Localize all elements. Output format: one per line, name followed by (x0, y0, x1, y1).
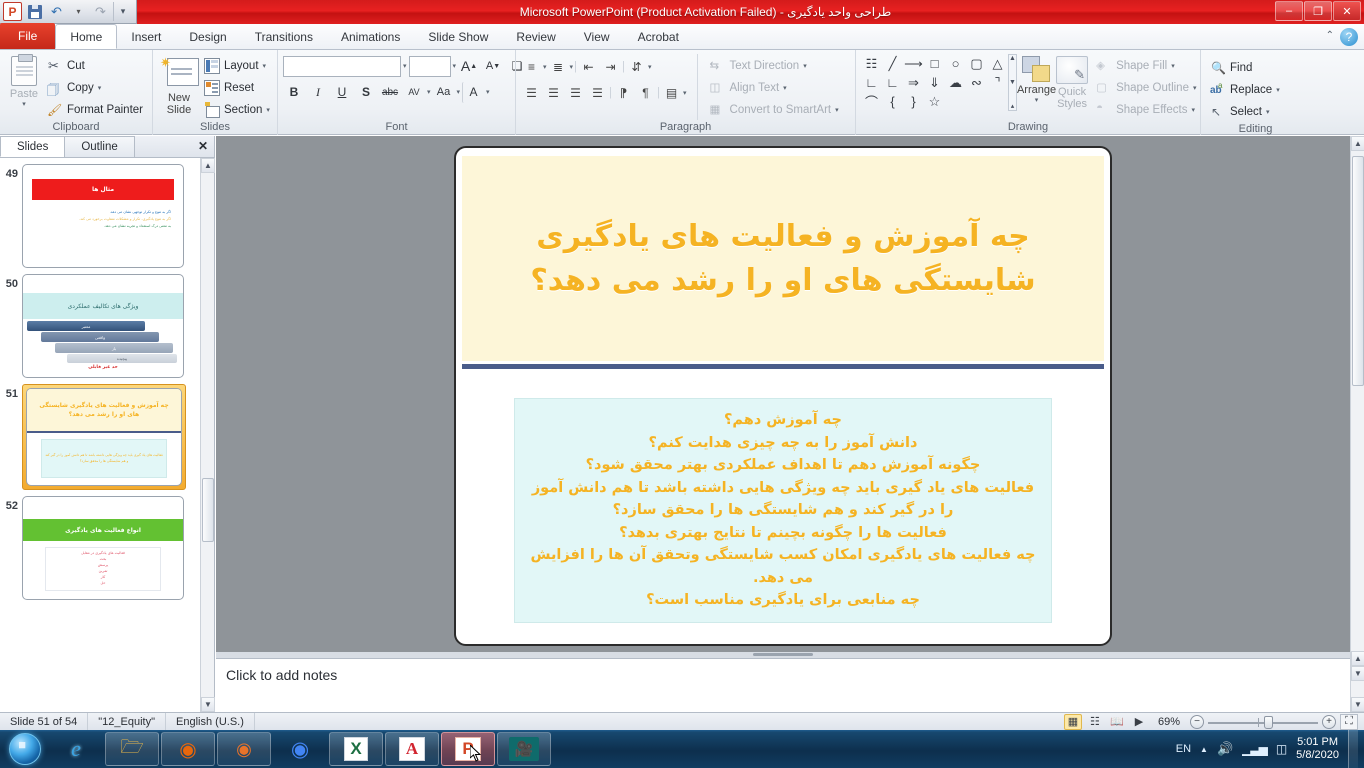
thumbnail-50-bar-2: واقعی (41, 332, 159, 342)
thumbnail-number-50: 50 (2, 274, 22, 290)
find-button[interactable]: Find (1206, 57, 1284, 78)
close-button[interactable]: ✕ (1333, 1, 1361, 21)
next-slide-icon[interactable]: ▼ (1351, 666, 1364, 681)
replace-label: Replace (1230, 84, 1272, 96)
taskbar-adobe-acrobat[interactable]: A (385, 732, 439, 766)
slide-body-line-5: فعالیت ها را چگونه بچینم تا نتایج بهتری … (523, 522, 1043, 544)
slide-divider (462, 364, 1104, 369)
media-player-icon: ◉ (236, 739, 252, 760)
clock-date: 5/8/2020 (1296, 749, 1339, 761)
language-indicator-tray[interactable]: EN (1176, 743, 1191, 755)
taskbar-camera-app[interactable]: 🎥 (497, 732, 551, 766)
replace-button[interactable]: Replace ▾ (1206, 79, 1284, 100)
network-bars-icon[interactable]: ▁▃▅ (1242, 742, 1267, 756)
numbering-dropdown-icon[interactable]: ▾ (570, 63, 574, 71)
paste-label: Paste (10, 88, 38, 100)
columns-dropdown-icon[interactable]: ▾ (683, 89, 687, 97)
slide-body-line-1: چه آموزش دهم؟ (523, 409, 1043, 431)
increase-indent-icon[interactable]: ⇥ (600, 57, 621, 77)
volume-icon[interactable]: 🔊 (1217, 741, 1233, 757)
tab-file[interactable]: File (0, 23, 55, 49)
shapes-gallery[interactable]: ☷ ╱ ⟶ □ ○ ▢ △ ∟ ∟ ⇒ ⇓ ☁ ∾ ⌝ ⌒ { } ☆ (861, 54, 1008, 111)
acrobat-icon: A (399, 737, 425, 761)
shape-outline-dropdown-icon[interactable]: ▾ (1193, 84, 1197, 92)
battery-icon[interactable]: ◫ (1276, 742, 1287, 756)
reset-button[interactable]: Reset (200, 77, 274, 98)
pane-scroll-thumb[interactable] (202, 478, 214, 542)
editing-group-title: Editing (1206, 122, 1305, 137)
zoom-out-button[interactable]: − (1190, 715, 1204, 729)
shape-right-arrow[interactable]: ⇒ (903, 73, 924, 92)
window-controls: – ❐ ✕ (1274, 1, 1361, 23)
find-label: Find (1230, 62, 1252, 74)
undo-icon[interactable]: ↶ (47, 2, 66, 21)
slide-body-line-4: فعالیت های یاد گیری باید چه ویژگی هایی د… (523, 477, 1043, 522)
powerpoint-app-icon[interactable]: P (3, 2, 22, 21)
quick-access-toolbar[interactable]: P ↶ ▾ ↷ ▾ (0, 0, 137, 24)
shape-star[interactable]: ☆ (924, 92, 945, 111)
cursor-icon (1210, 104, 1226, 120)
tab-view[interactable]: View (570, 25, 624, 49)
binoculars-icon (1210, 60, 1226, 76)
shape-curve[interactable]: ⌝ (987, 73, 1008, 92)
windows-orb-icon (9, 733, 41, 765)
cut-label: Cut (67, 60, 85, 72)
section-icon (204, 102, 220, 118)
thumbnail-49-bullet-3: به معنی درک استعداد و تجربه نشان می دهد. (39, 223, 171, 230)
font-name-input[interactable] (283, 56, 401, 77)
font-group-title: Font (283, 120, 510, 135)
thumbnail-50-bar-1: معتبر (27, 321, 145, 331)
close-pane-icon[interactable]: ✕ (198, 139, 208, 153)
convert-to-smartart-label: Convert to SmartArt (730, 104, 832, 116)
thumbnail-51-body: فعالیت های یاد گیری باید چه ویژگی هایی د… (42, 453, 166, 464)
slide-area-scrollbar[interactable]: ▲ ▲ ▼ ▼ (1350, 136, 1364, 712)
thumbnail-row-52: 52 انواع فعالیت های یادگیری فعالیت های ی… (0, 490, 200, 600)
tab-acrobat[interactable]: Acrobat (624, 25, 693, 49)
tab-insert[interactable]: Insert (117, 25, 175, 49)
collapse-ribbon-icon[interactable]: ⌃ (1326, 30, 1334, 41)
save-icon[interactable] (25, 2, 44, 21)
shape-arc[interactable]: ⌒ (861, 92, 882, 111)
slide-body-line-7: چه منابعی برای یادگیری مناسب است؟ (523, 589, 1043, 611)
copy-label: Copy (67, 82, 94, 94)
font-size-dropdown-icon[interactable]: ▾ (453, 62, 457, 70)
character-spacing-dropdown-icon[interactable]: ▾ (427, 88, 431, 96)
select-button[interactable]: Select ▾ (1206, 101, 1284, 122)
taskbar-microsoft-excel[interactable]: X (329, 732, 383, 766)
shape-effects-label: Shape Effects (1116, 104, 1187, 116)
language-indicator[interactable]: English (U.S.) (166, 713, 255, 731)
scroll-thumb[interactable] (1352, 156, 1364, 386)
drawing-group-title: Drawing (861, 120, 1195, 135)
reset-icon (204, 80, 220, 96)
taskbar-windows-explorer[interactable]: 🗁 (105, 732, 159, 766)
thumbnail-50-title: ویژگی های تکالیف عملکردی (68, 303, 139, 310)
ribbon-group-clipboard: Paste ▾ Cut Copy ▾ Format Painter C (0, 50, 152, 135)
slide-thumbnail-51-selection: چه آموزش و فعالیت های یادگیری شایستگی ها… (22, 384, 186, 490)
shape-outline-icon: ▢ (1096, 80, 1112, 96)
format-painter-button[interactable]: Format Painter (43, 99, 147, 120)
thumbnail-row-49: 49 مثال ها اگر به تنوع و تکرار توجهی نشا… (0, 158, 200, 268)
quick-styles-icon (1056, 56, 1088, 84)
shape-effects-icon: ◓ (1096, 102, 1112, 118)
text-direction-label: Text Direction (730, 60, 800, 72)
tab-animations[interactable]: Animations (327, 25, 414, 49)
zoom-tick (1258, 718, 1259, 727)
bullets-dropdown-icon[interactable]: ▾ (543, 63, 547, 71)
shapes-scroll-down-icon[interactable]: ▼ (1009, 79, 1016, 86)
internet-explorer-icon: e (71, 736, 81, 762)
quick-styles-label-1: Quick (1058, 86, 1086, 98)
zoom-slider[interactable] (1208, 714, 1318, 730)
tab-home[interactable]: Home (55, 24, 117, 49)
section-button[interactable]: Section ▾ (200, 99, 274, 120)
slide-title-placeholder[interactable]: چه آموزش و فعالیت های یادگیری شایستگی ها… (462, 156, 1104, 361)
quick-styles-button[interactable]: Quick Styles (1056, 54, 1088, 110)
slide-title-text: چه آموزش و فعالیت های یادگیری شایستگی ها… (462, 215, 1104, 302)
shape-fill-label: Shape Fill (1116, 60, 1167, 72)
slide-thumbnail-52[interactable]: انواع فعالیت های یادگیری فعالیت های یادگ… (22, 496, 184, 600)
reset-label: Reset (224, 82, 254, 94)
shapes-scroll-up-icon[interactable]: ▲ (1009, 55, 1016, 62)
slide-body-line-6: چه فعالیت های یادگیری امکان کسب شایستگی … (523, 544, 1043, 589)
text-direction-button[interactable]: ⇆ Text Direction ▾ (706, 55, 843, 76)
show-hidden-icons-icon[interactable]: ▲ (1200, 745, 1208, 754)
select-dropdown-icon[interactable]: ▾ (1266, 108, 1270, 116)
new-slide-label-2: Slide (167, 104, 191, 116)
shape-rounded-rectangle[interactable]: ▢ (966, 54, 987, 73)
thumbnail-number-52: 52 (2, 496, 22, 512)
scissors-icon (47, 58, 63, 74)
shape-rectangle[interactable]: □ (924, 54, 945, 73)
paste-icon (11, 56, 37, 86)
arrange-icon (1022, 56, 1052, 82)
scroll-up-icon[interactable]: ▲ (1351, 136, 1364, 151)
shape-arrow[interactable]: ⟶ (903, 54, 924, 73)
taskbar-firefox[interactable]: ◉ (161, 732, 215, 766)
change-case-dropdown-icon[interactable]: ▾ (457, 88, 461, 96)
line-spacing-icon[interactable]: ⇵ (626, 57, 647, 77)
status-bar: Slide 51 of 54 "12_Equity" English (U.S.… (0, 712, 1364, 730)
show-desktop-button[interactable] (1348, 730, 1358, 768)
slide-counter[interactable]: Slide 51 of 54 (0, 713, 88, 731)
text-direction-dropdown-icon[interactable]: ▾ (803, 62, 807, 70)
status-bar-right: ▦ ☷ 📖 ▶ 69% − + ⛶ (1064, 714, 1364, 730)
reading-view-icon[interactable]: 📖 (1108, 714, 1126, 730)
normal-view-icon[interactable]: ▦ (1064, 714, 1082, 730)
taskbar: e 🗁 ◉ ◉ ◉ X A P 🎥 EN ▲ 🔊 ▁▃▅ ◫ 5:01 PM 5… (0, 730, 1364, 768)
slide-thumbnail-49[interactable]: مثال ها اگر به تنوع و تکرار توجهی نشان م… (22, 164, 184, 268)
shape-corner[interactable]: ∟ (861, 73, 882, 92)
new-slide-button[interactable]: ✷ New Slide (158, 54, 200, 116)
ribbon: Paste ▾ Cut Copy ▾ Format Painter C (0, 50, 1364, 135)
shape-scribble[interactable]: ∾ (966, 73, 987, 92)
font-name-dropdown-icon[interactable]: ▾ (403, 62, 407, 70)
thumbnail-52-body: فعالیت های یادگیری در مقابلبحثپرسشتمرینک… (81, 550, 125, 586)
line-spacing-dropdown-icon[interactable]: ▾ (648, 63, 652, 71)
theme-name[interactable]: "12_Equity" (88, 713, 166, 731)
arrange-button[interactable]: Arrange ▾ (1017, 54, 1056, 104)
align-text-icon: ◫ (710, 80, 726, 96)
format-painter-label: Format Painter (67, 104, 143, 116)
arrange-label: Arrange (1017, 84, 1056, 96)
ribbon-group-editing: Find Replace ▾ Select ▾ Editing (1200, 50, 1310, 135)
font-color-dropdown-icon[interactable]: ▾ (486, 88, 490, 96)
thumbnail-51-title: چه آموزش و فعالیت های یادگیری شایستگی ها… (33, 401, 175, 419)
firefox-icon: ◉ (179, 737, 196, 762)
redo-icon[interactable]: ↷ (91, 2, 110, 21)
change-case-button[interactable]: Aa (433, 82, 455, 103)
copy-icon (47, 80, 63, 96)
clipboard-group-title: Clipboard (5, 120, 147, 135)
help-icon[interactable]: ? (1340, 28, 1358, 46)
thumbnail-50-bar-3: باز (55, 343, 173, 353)
slideshow-icon[interactable]: ▶ (1130, 714, 1148, 730)
shape-outline-button[interactable]: ▢ Shape Outline ▾ (1092, 77, 1200, 98)
copy-button[interactable]: Copy ▾ (43, 77, 147, 98)
align-text-dropdown-icon[interactable]: ▾ (783, 84, 787, 92)
layout-label: Layout (224, 60, 259, 72)
shapes-gallery-scroll[interactable]: ▲ ▼ ▴ (1008, 54, 1017, 111)
thumbnail-49-title: مثال ها (92, 186, 114, 193)
shape-effects-dropdown-icon[interactable]: ▾ (1191, 106, 1195, 114)
italic-button[interactable]: I (307, 82, 329, 103)
taskbar-microsoft-powerpoint[interactable]: P (441, 732, 495, 766)
section-label: Section (224, 104, 262, 116)
thumbnail-49-bullet-1: اگر به تنوع و تکرار توجهی نشان می دهد. (39, 209, 171, 216)
bold-button[interactable]: B (283, 82, 305, 103)
layout-dropdown-icon[interactable]: ▾ (263, 62, 267, 70)
pane-tab-slides[interactable]: Slides (0, 136, 65, 157)
layout-icon (204, 58, 220, 74)
slide-thumbnail-50[interactable]: ویژگی های تکالیف عملکردی معتبر واقعی باز… (22, 274, 184, 378)
slides-group-title: Slides (158, 120, 272, 135)
slide-sorter-icon[interactable]: ☷ (1086, 714, 1104, 730)
font-color-button[interactable]: A (462, 82, 484, 103)
new-slide-label-1: New (168, 92, 190, 104)
align-text-button[interactable]: ◫ Align Text ▾ (706, 77, 843, 98)
thumbnail-52-title: انواع فعالیت های یادگیری (65, 527, 141, 534)
slide-body-line-2: دانش آموز را به چه چیزی هدایت کنم؟ (523, 432, 1043, 454)
slide-pane-scrollbar[interactable]: ▲ ▼ (200, 158, 214, 712)
arrange-dropdown-icon[interactable]: ▾ (1035, 96, 1039, 104)
shape-right-brace[interactable]: } (903, 92, 924, 111)
slide-thumbnail-list: 49 مثال ها اگر به تنوع و تکرار توجهی نشا… (0, 158, 200, 712)
ribbon-tab-strip: File Home Insert Design Transitions Anim… (0, 24, 1364, 50)
slide-body-text: چه آموزش دهم؟ دانش آموز را به چه چیزی هد… (515, 405, 1051, 615)
taskbar-windows-media-player[interactable]: ◉ (217, 732, 271, 766)
thumbnail-49-bullet-2: اگر به تنوع یادگیری، تکرار و مشکلات متفا… (39, 216, 171, 223)
shape-fill-button[interactable]: ◈ Shape Fill ▾ (1092, 55, 1200, 76)
shape-effects-button[interactable]: ◓ Shape Effects ▾ (1092, 99, 1200, 120)
shape-fill-dropdown-icon[interactable]: ▾ (1171, 62, 1175, 70)
decrease-indent-icon[interactable]: ⇤ (578, 57, 599, 77)
replace-dropdown-icon[interactable]: ▾ (1276, 86, 1280, 94)
tab-slide-show[interactable]: Slide Show (414, 25, 502, 49)
chrome-icon: ◉ (291, 737, 309, 762)
undo-dropdown-icon[interactable]: ▾ (69, 2, 88, 21)
convert-to-smartart-button[interactable]: ▦ Convert to SmartArt ▾ (706, 99, 843, 120)
align-right-icon[interactable]: ☰ (565, 83, 586, 103)
tab-design[interactable]: Design (175, 25, 240, 49)
new-slide-icon: ✷ (158, 56, 200, 90)
paste-dropdown-icon[interactable]: ▾ (22, 100, 26, 108)
restore-button[interactable]: ❐ (1304, 1, 1332, 21)
slide-editing-area: چه آموزش و فعالیت های یادگیری شایستگی ها… (216, 136, 1350, 658)
smartart-dropdown-icon[interactable]: ▾ (835, 106, 839, 114)
select-label: Select (1230, 106, 1262, 118)
underline-button[interactable]: U (331, 82, 353, 103)
start-button[interactable] (2, 731, 48, 767)
quick-styles-label-2: Styles (1057, 98, 1087, 110)
ribbon-group-paragraph: ≡ ▾ ≣ ▾ | ⇤ ⇥ | ⇵ ▾ ☰ ☰ ☰ ☰ | ⁋ (515, 50, 855, 135)
slide-body-line-3: چگونه آموزش دهم تا اهداف عملکردی بهتر مح… (523, 454, 1043, 476)
section-dropdown-icon[interactable]: ▾ (266, 106, 270, 114)
shape-down-arrow[interactable]: ⇓ (924, 73, 945, 92)
zoom-in-button[interactable]: + (1322, 715, 1336, 729)
replace-icon (1210, 82, 1226, 98)
thumbnail-row-51: 51 چه آموزش و فعالیت های یادگیری شایستگی… (0, 378, 200, 490)
ribbon-group-font: ▾ ▾ A▲ A▼ ❏ B I U S abc AV ▾ Aa ▾ A ▾ Fo… (277, 50, 515, 135)
thumbnail-number-51: 51 (2, 384, 22, 400)
notes-pane[interactable]: Click to add notes (216, 658, 1350, 712)
shape-fill-icon: ◈ (1096, 58, 1112, 74)
taskbar-internet-explorer[interactable]: e (49, 732, 103, 766)
columns-icon[interactable]: ▤ (661, 83, 682, 103)
system-tray: EN ▲ 🔊 ▁▃▅ ◫ 5:01 PM 5/8/2020 (1176, 730, 1364, 768)
character-spacing-button[interactable]: AV (403, 82, 425, 103)
shape-text-box[interactable]: ☷ (861, 54, 882, 73)
layout-button[interactable]: Layout ▾ (200, 55, 274, 76)
font-row-top: ▾ ▾ A▲ A▼ ❏ (283, 55, 528, 77)
rtl-icon[interactable]: ¶ (635, 83, 656, 103)
thumbnail-50-footer: حد غیر قابلی (23, 365, 183, 370)
text-shadow-button[interactable]: S (355, 82, 377, 103)
minimize-button[interactable]: – (1275, 1, 1303, 21)
paste-button[interactable]: Paste ▾ (5, 54, 43, 108)
align-center-icon[interactable]: ☰ (543, 83, 564, 103)
font-size-input[interactable] (409, 56, 451, 77)
fit-slide-icon[interactable]: ⛶ (1340, 714, 1358, 730)
shape-triangle[interactable]: △ (987, 54, 1008, 73)
shape-elbow-connector[interactable]: ∟ (882, 73, 903, 92)
ribbon-group-slides: ✷ New Slide Layout ▾ Reset Section ▾ (152, 50, 277, 135)
smartart-icon: ▦ (710, 102, 726, 118)
ltr-icon[interactable]: ⁋ (613, 83, 634, 103)
thumbnail-row-50: 50 ویژگی های تکالیف عملکردی معتبر واقعی … (0, 268, 200, 378)
zoom-track (1208, 722, 1318, 724)
shape-outline-label: Shape Outline (1116, 82, 1189, 94)
slide-body-placeholder[interactable]: چه آموزش دهم؟ دانش آموز را به چه چیزی هد… (514, 398, 1052, 623)
customize-qat-icon[interactable]: ▾ (113, 2, 132, 21)
align-text-label: Align Text (730, 82, 780, 94)
strikethrough-button[interactable]: abc (379, 82, 401, 103)
paintbrush-icon (47, 102, 63, 118)
clock[interactable]: 5:01 PM 5/8/2020 (1296, 736, 1339, 762)
pane-tab-strip: Slides Outline ✕ (0, 136, 214, 158)
splitter-grip[interactable] (753, 653, 813, 656)
folder-icon: 🗁 (120, 733, 144, 765)
pane-tab-outline[interactable]: Outline (64, 136, 134, 157)
thumbnail-50-bar-4: پیچیده (67, 354, 177, 363)
pane-scroll-down-icon[interactable]: ▼ (201, 697, 215, 712)
tab-transitions[interactable]: Transitions (241, 25, 327, 49)
slide-thumbnail-51[interactable]: چه آموزش و فعالیت های یادگیری شایستگی ها… (26, 388, 182, 486)
shapes-more-icon[interactable]: ▴ (1011, 102, 1015, 110)
font-row-bottom: B I U S abc AV ▾ Aa ▾ A ▾ (283, 81, 490, 103)
copy-dropdown-icon[interactable]: ▾ (98, 84, 102, 92)
taskbar-google-chrome[interactable]: ◉ (273, 732, 327, 766)
numbering-icon[interactable]: ≣ (548, 57, 569, 77)
shape-line[interactable]: ╱ (882, 54, 903, 73)
camera-icon: 🎥 (509, 737, 540, 761)
scroll-down-icon[interactable]: ▼ (1351, 697, 1364, 712)
shrink-font-button[interactable]: A▼ (482, 56, 504, 77)
slides-outline-pane: Slides Outline ✕ 49 مثال ها اگر به تنوع … (0, 136, 215, 712)
zoom-level-label[interactable]: 69% (1152, 716, 1186, 728)
zoom-handle[interactable] (1264, 716, 1273, 729)
cut-button[interactable]: Cut (43, 55, 147, 76)
excel-icon: X (344, 737, 367, 761)
shape-oval[interactable]: ○ (945, 54, 966, 73)
pane-scroll-up-icon[interactable]: ▲ (201, 158, 215, 173)
shape-left-brace[interactable]: { (882, 92, 903, 111)
tab-review[interactable]: Review (502, 25, 569, 49)
current-slide[interactable]: چه آموزش و فعالیت های یادگیری شایستگی ها… (454, 146, 1112, 646)
thumbnail-number-49: 49 (2, 164, 22, 180)
shape-cloud[interactable]: ☁ (945, 73, 966, 92)
bullets-icon[interactable]: ≡ (521, 57, 542, 77)
justify-icon[interactable]: ☰ (587, 83, 608, 103)
previous-slide-icon[interactable]: ▲ (1351, 651, 1364, 666)
text-direction-icon: ⇆ (710, 58, 726, 74)
title-bar: P ↶ ▾ ↷ ▾ طراحی واحد یادگیری - Microsoft… (0, 0, 1364, 24)
ribbon-group-drawing: ☷ ╱ ⟶ □ ○ ▢ △ ∟ ∟ ⇒ ⇓ ☁ ∾ ⌝ ⌒ { } ☆ ▲ (855, 50, 1200, 135)
window-title: طراحی واحد یادگیری - Microsoft PowerPoin… (137, 5, 1274, 19)
clock-time: 5:01 PM (1297, 736, 1338, 748)
align-left-icon[interactable]: ☰ (521, 83, 542, 103)
grow-font-button[interactable]: A▲ (458, 56, 480, 77)
powerpoint-icon: P (455, 737, 480, 761)
paragraph-group-title: Paragraph (521, 120, 850, 135)
